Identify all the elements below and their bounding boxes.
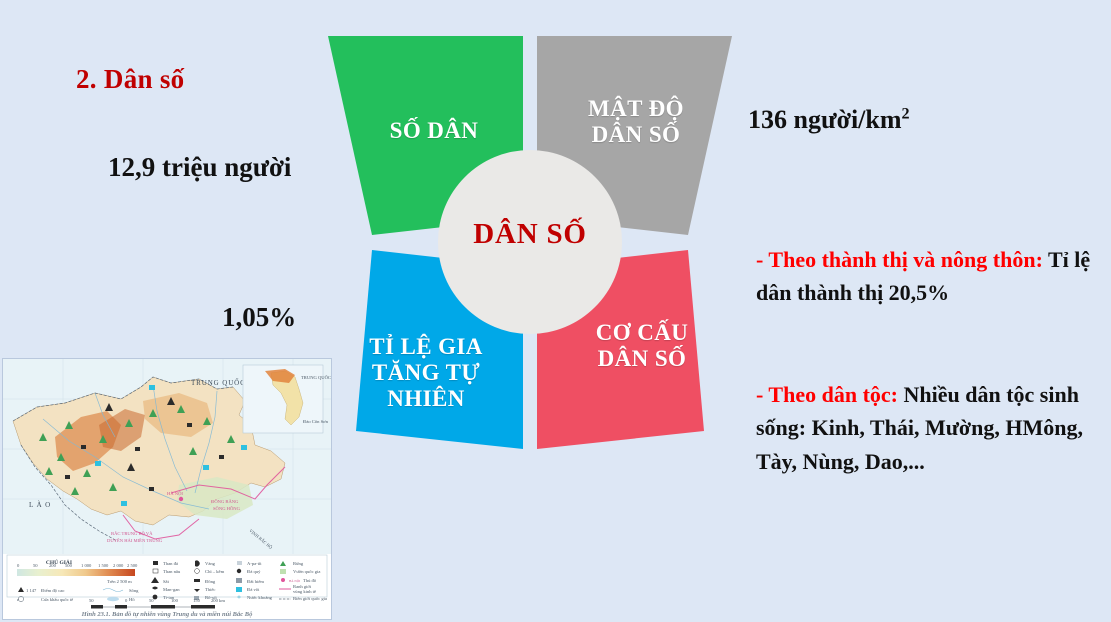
- svg-text:Biên giới quốc gia: Biên giới quốc gia: [293, 596, 327, 601]
- svg-text:50: 50: [89, 598, 94, 603]
- svg-text:500: 500: [65, 563, 73, 568]
- svg-text:Cửa khẩu quốc tế: Cửa khẩu quốc tế: [41, 597, 74, 602]
- map-label-bac-trung-bo-2: DUYÊN HẢI MIỀN TRUNG: [107, 538, 163, 543]
- svg-text:Rừng: Rừng: [293, 561, 304, 566]
- svg-text:HÀ NỘI: HÀ NỘI: [289, 578, 300, 583]
- svg-text:0: 0: [125, 598, 128, 603]
- svg-text:Nước khoáng: Nước khoáng: [247, 595, 273, 600]
- svg-text:Đá vôi: Đá vôi: [247, 587, 260, 592]
- svg-text:Đảo Côn Sơn: Đảo Côn Sơn: [303, 419, 329, 424]
- svg-text:Chì – kẽm: Chì – kẽm: [205, 569, 225, 574]
- map-label-bac-trung-bo: BẮC TRUNG BỘ VÀ: [111, 530, 153, 536]
- svg-text:Sắt: Sắt: [163, 579, 170, 584]
- svg-text:TRUNG QUỐC: TRUNG QUỐC: [301, 375, 331, 380]
- svg-text:50: 50: [149, 598, 154, 603]
- svg-text:Trên 2 500 m: Trên 2 500 m: [107, 579, 132, 584]
- map-label-ha-noi: HÀ NỘI: [167, 491, 183, 496]
- map-inset-locator: TRUNG QUỐC Đảo Côn Sơn: [243, 365, 331, 433]
- detail-ethnic-label: - Theo dân tộc:: [756, 382, 898, 407]
- stat-density-exponent: 2: [902, 105, 910, 122]
- svg-text:Đá quý: Đá quý: [247, 569, 261, 574]
- map-label-dong-bang-song-hong-2: SÔNG HỒNG: [213, 506, 241, 511]
- population-diagram: SỐ DÂN MẬT ĐỘDÂN SỐ TỈ LỆ GIATĂNG TỰNHIÊ…: [310, 18, 750, 468]
- svg-text:Vườn quốc gia: Vườn quốc gia: [293, 569, 320, 574]
- svg-text:Than đá: Than đá: [163, 561, 178, 566]
- stat-density-number: 136 người/km: [748, 105, 902, 134]
- svg-text:2 000: 2 000: [113, 563, 124, 568]
- stat-population-value: 12,9 triệu người: [108, 152, 291, 183]
- map-caption: Hình 23.1. Bản đồ tự nhiên vùng Trung du…: [3, 611, 331, 618]
- detail-ethnic-groups: - Theo dân tộc: Nhiều dân tộc sinh sống:…: [756, 378, 1104, 478]
- svg-text:Điểm độ cao: Điểm độ cao: [41, 588, 65, 593]
- map-figure[interactable]: TRUNG QUỐC L À O HÀ NỘI ĐỒNG BẰNG SÔNG H…: [2, 358, 332, 620]
- svg-text:1 500: 1 500: [98, 563, 109, 568]
- detail-urban-rural: - Theo thành thị và nông thôn: Tỉ lệ dân…: [756, 243, 1104, 310]
- detail-urban-label: - Theo thành thị và nông thôn:: [756, 247, 1043, 272]
- stat-growth-rate-value: 1,05%: [222, 302, 296, 333]
- map-label-dong-bang-song-hong: ĐỒNG BẰNG: [211, 498, 239, 504]
- svg-text:Thiếc: Thiếc: [205, 587, 215, 592]
- svg-text:Thủ đô: Thủ đô: [303, 578, 317, 583]
- page-title: 2. Dân số: [76, 64, 184, 95]
- svg-text:Vàng: Vàng: [205, 561, 216, 566]
- svg-text:200 km: 200 km: [211, 598, 225, 603]
- svg-text:100: 100: [171, 598, 179, 603]
- map-label-trung-quoc: TRUNG QUỐC: [191, 379, 246, 387]
- svg-text:Sông: Sông: [129, 588, 139, 593]
- svg-text:50: 50: [33, 563, 38, 568]
- map-capital-marker: [179, 497, 183, 501]
- map-legend: CHÚ GIẢI 0 50 200 500 1 000 1 500 2 000 …: [7, 555, 327, 602]
- svg-text:A-pa-tít: A-pa-tít: [247, 561, 262, 566]
- map-label-lao: L À O: [29, 501, 51, 509]
- svg-text:Đồng: Đồng: [205, 579, 216, 584]
- svg-text:Man-gan: Man-gan: [163, 587, 180, 592]
- svg-text:150: 150: [193, 598, 201, 603]
- svg-text:Than nâu: Than nâu: [163, 569, 181, 574]
- svg-text:1 000: 1 000: [81, 563, 92, 568]
- svg-text:Hồ: Hồ: [129, 597, 135, 602]
- svg-text:2 500: 2 500: [127, 563, 138, 568]
- hub-circle: [438, 150, 622, 334]
- svg-text:200: 200: [49, 563, 57, 568]
- svg-text:P: P: [17, 598, 19, 602]
- svg-text:vùng kinh tế: vùng kinh tế: [293, 589, 317, 594]
- stat-density-value: 136 người/km2: [748, 105, 910, 135]
- svg-text:1 147: 1 147: [26, 588, 37, 593]
- svg-text:Đất hiếm: Đất hiếm: [247, 579, 264, 584]
